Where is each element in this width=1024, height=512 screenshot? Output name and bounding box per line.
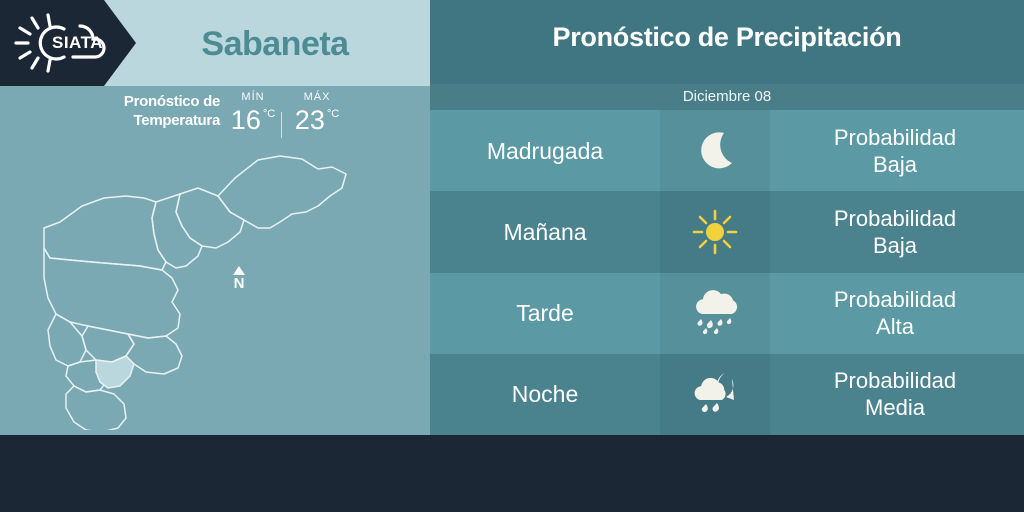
temperature-title-line1: Pronóstico de [124, 93, 220, 110]
temperature-separator [281, 112, 282, 138]
sun-cloud-icon: SIATA [8, 12, 128, 74]
row-probability-line2: Baja [770, 151, 1020, 178]
map-highlight-sabaneta [96, 356, 134, 388]
row-probability: Probabilidad Alta [770, 286, 1024, 340]
city-title: Sabaneta [120, 20, 430, 68]
temperature-min: MÍN 16°C [222, 90, 284, 135]
temperature-max-value: 23 [295, 105, 325, 135]
aburra-valley-map [30, 150, 410, 430]
temperature-block: Pronóstico de Temperatura MÍN 16°C MÁX 2… [0, 90, 430, 152]
row-period: Madrugada [430, 138, 660, 164]
moon-rain-cloud-icon [688, 369, 742, 419]
row-period: Tarde [430, 300, 660, 326]
right-panel: Pronóstico de Precipitación Diciembre 08… [430, 0, 1024, 435]
row-probability-line1: Probabilidad [834, 125, 956, 150]
infographic-root: Sabaneta SIATA Pronóstic [0, 0, 1024, 512]
row-probability: Probabilidad Media [770, 367, 1024, 421]
temperature-max: MÁX 23°C [286, 90, 348, 135]
row-icon-cell [660, 110, 770, 191]
row-probability-line2: Alta [770, 313, 1020, 340]
table-row: Mañana [430, 191, 1024, 272]
temperature-title-line2: Temperatura [134, 112, 220, 129]
row-probability-line1: Probabilidad [834, 368, 956, 393]
row-icon-cell [660, 191, 770, 272]
north-label: N [222, 276, 256, 291]
left-panel: Sabaneta SIATA Pronóstic [0, 0, 430, 435]
row-probability-line1: Probabilidad [834, 287, 956, 312]
row-icon-cell [660, 273, 770, 354]
north-arrow: N [222, 266, 256, 291]
row-probability: Probabilidad Baja [770, 205, 1024, 259]
footer: @siatamedellin www.siata.gov.co Con el a… [0, 435, 1024, 512]
temperature-max-label: MÁX [286, 90, 348, 105]
row-icon-cell [660, 354, 770, 435]
sun-icon [690, 207, 740, 257]
forecast-table: Madrugada Probabilidad Baja Mañana [430, 110, 1024, 435]
row-period: Mañana [430, 219, 660, 245]
temperature-min-label: MÍN [222, 90, 284, 105]
siata-logo-text: SIATA [52, 33, 103, 52]
map-svg [30, 150, 410, 430]
north-arrow-icon [233, 266, 245, 275]
row-probability-line1: Probabilidad [834, 206, 956, 231]
rain-cloud-icon [688, 288, 742, 338]
temperature-min-value: 16 [231, 105, 261, 135]
row-probability-line2: Baja [770, 232, 1020, 259]
temperature-max-unit: °C [327, 108, 339, 120]
moon-icon [690, 126, 740, 176]
temperature-min-unit: °C [263, 108, 275, 120]
forecast-date: Diciembre 08 [430, 84, 1024, 110]
row-probability: Probabilidad Baja [770, 124, 1024, 178]
row-period: Noche [430, 381, 660, 407]
row-probability-line2: Media [770, 394, 1020, 421]
table-row: Noche Probabilidad Media [430, 354, 1024, 435]
table-row: Tarde Prob [430, 273, 1024, 354]
precipitation-title: Pronóstico de Precipitación [430, 22, 1024, 53]
table-row: Madrugada Probabilidad Baja [430, 110, 1024, 191]
temperature-title: Pronóstico de Temperatura [60, 92, 220, 130]
